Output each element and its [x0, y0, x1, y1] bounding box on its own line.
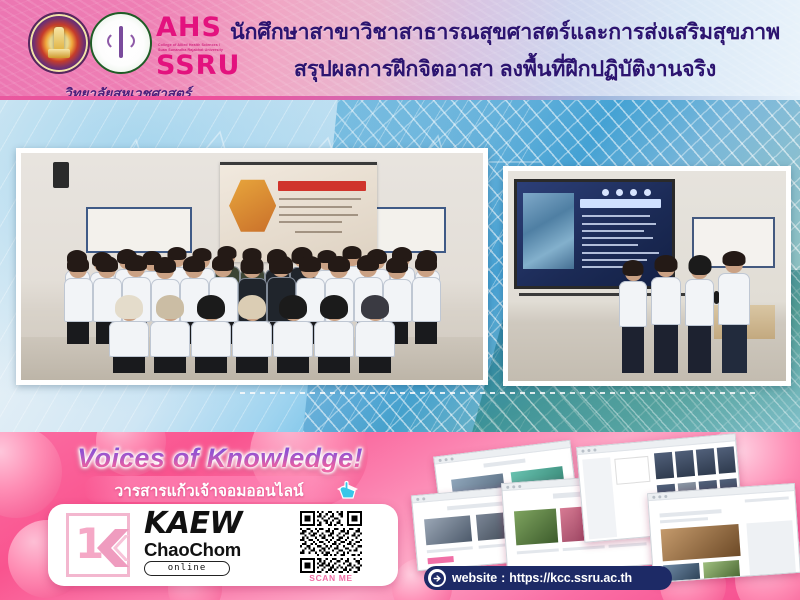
- kaew-monogram-mark: 1: [66, 513, 130, 577]
- slide-hexagon-graphic: [229, 179, 276, 233]
- banner-headline: Voices of Knowledge!: [70, 443, 370, 474]
- kaew-chao-chom-banner: Voices of Knowledge! วารสารแก้วเจ้าจอมออ…: [0, 432, 800, 600]
- kaew-brand-secondary: ChaoChom: [144, 540, 284, 559]
- photo-showcase-section: [0, 100, 800, 432]
- slide-heading-bar: [580, 199, 661, 208]
- presentation-room-scene: [508, 171, 786, 381]
- poster-header: AHS College of Allied Health Sciences / …: [0, 0, 800, 100]
- ssru-university-seal-icon: [28, 12, 90, 74]
- qr-code-image: [300, 511, 362, 573]
- kaew-online-tag: online: [144, 561, 230, 576]
- institution-logo-block: AHS College of Allied Health Sciences / …: [28, 6, 218, 94]
- slide-photo-collage: [523, 193, 574, 269]
- wall-speaker: [53, 162, 69, 188]
- kaew-brand-primary: KAEW: [144, 509, 284, 539]
- poster-title-line-1: นักศึกษาสาขาวิชาสาธารณสุขศาสตร์และการส่ง…: [230, 15, 780, 49]
- kaew-logo-card: 1 KAEW ChaoChom online: [48, 504, 398, 586]
- ahs-abbreviation: AHS: [156, 14, 222, 42]
- website-url-pill[interactable]: website : https://kcc.ssru.ac.th: [424, 566, 672, 590]
- banner-subtitle-thai: วารสารแก้วเจ้าจอมออนไลน์: [84, 478, 334, 503]
- presentation-photo-side: [503, 166, 791, 386]
- arrow-right-circle-icon: [428, 569, 446, 587]
- microphone-icon: [714, 291, 719, 304]
- header-title-group: นักศึกษาสาขาวิชาสาธารณสุขศาสตร์และการส่ง…: [222, 8, 788, 92]
- qr-code[interactable]: [300, 511, 362, 573]
- photo-people-row-front: [21, 297, 483, 373]
- poster-canvas: AHS College of Allied Health Sciences / …: [0, 0, 800, 600]
- website-mockup: [647, 483, 800, 583]
- kaew-wordmark: KAEW ChaoChom online: [144, 509, 284, 576]
- hand-pointer-icon: [334, 480, 360, 502]
- header-divider: [0, 96, 800, 100]
- slide-title-bar: [278, 181, 366, 192]
- website-mockup-group: [414, 434, 800, 574]
- website-url[interactable]: https://kcc.ssru.ac.th: [509, 571, 632, 585]
- group-photo-main: [16, 148, 488, 385]
- kaew-chevron-icon: [91, 527, 129, 569]
- decorative-balloon: [0, 432, 62, 518]
- presenter-group: [619, 251, 786, 373]
- dotted-line-decoration: [240, 392, 760, 394]
- ahs-caduceus-seal-icon: [90, 12, 152, 74]
- website-separator: :: [501, 571, 505, 585]
- scan-me-label: SCAN ME: [296, 573, 366, 583]
- classroom-scene: [21, 153, 483, 380]
- poster-title-line-2: สรุปผลการฝึกจิตอาสา ลงพื้นที่ฝึกปฏิบัติง…: [294, 52, 716, 86]
- website-label: website: [452, 571, 497, 585]
